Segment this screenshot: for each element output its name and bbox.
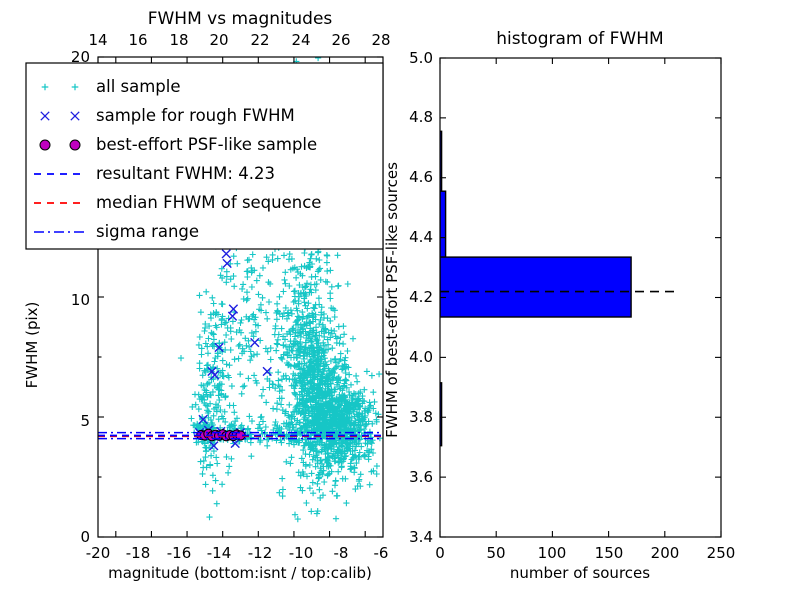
legend-label-resultant-fwhm: resultant FWHM: 4.23: [96, 164, 275, 183]
y-tick-label: 5: [80, 412, 90, 430]
top-tick-label: 16: [128, 31, 147, 49]
bottom-tick-label: -16: [167, 544, 192, 562]
y-tick-label: 0: [80, 528, 90, 546]
histogram-bar: [440, 257, 631, 317]
x-tick-label: 100: [538, 544, 567, 562]
y-tick-label: 3.8: [409, 408, 433, 426]
y-tick-label: 4.4: [409, 228, 433, 246]
left-panel-title: FWHM vs magnitudes: [148, 9, 333, 29]
legend-label-median-fhwm: median FHWM of sequence: [96, 193, 321, 212]
top-tick-label: 22: [250, 31, 269, 49]
legend-label-sigma-range: sigma range: [96, 222, 199, 241]
x-tick-label: 150: [595, 544, 624, 562]
legend-label-rough-fwhm: sample for rough FWHM: [96, 106, 295, 125]
top-tick-label: 28: [371, 31, 390, 49]
y-tick-label: 4.8: [409, 108, 433, 126]
legend-label-all-sample: all sample: [96, 77, 181, 96]
right-panel-ylabel: FWHM of best-effort PSF-like sources: [383, 162, 401, 438]
x-tick-label: 0: [435, 544, 445, 562]
left-panel-ylabel: FWHM (pix): [23, 302, 41, 389]
y-tick-label: 4.2: [409, 288, 433, 306]
bottom-tick-label: -10: [289, 544, 314, 562]
right-panel-histogram: histogram of FWHM 0 50 100 150 200 250 3…: [383, 29, 735, 582]
bottom-tick-label: -8: [334, 544, 349, 562]
left-panel-top-tick-labels: 14 16 18 20 22 24 26 28: [88, 31, 390, 49]
matplotlib-figure: FWHM vs magnitudes 14 16 18 20 22 24 26 …: [0, 0, 800, 600]
y-tick-label: 3.4: [409, 528, 433, 546]
y-tick-label: 4.6: [409, 168, 433, 186]
bottom-tick-label: -12: [248, 544, 273, 562]
bottom-tick-label: -14: [207, 544, 232, 562]
right-panel-xlabel: number of sources: [510, 564, 650, 582]
bottom-tick-label: -6: [374, 544, 389, 562]
legend: all sample sample for rough FWHM best-ef…: [26, 63, 383, 249]
y-tick-label: 4.0: [409, 348, 433, 366]
figure-canvas: FWHM vs magnitudes 14 16 18 20 22 24 26 …: [0, 0, 800, 600]
x-tick-label: 200: [651, 544, 680, 562]
histogram-bar: [440, 191, 446, 257]
top-tick-label: 14: [88, 31, 107, 49]
legend-box: [26, 63, 383, 249]
left-panel-xlabel: magnitude (bottom:isnt / top:calib): [108, 564, 372, 582]
legend-label-psf-like-sample: best-effort PSF-like sample: [96, 135, 317, 154]
y-tick-label: 5.0: [409, 49, 433, 67]
right-panel-x-tick-labels: 0 50 100 150 200 250: [435, 544, 735, 562]
bottom-tick-label: -18: [126, 544, 151, 562]
top-tick-label: 18: [169, 31, 188, 49]
right-panel-y-tick-labels: 3.4 3.6 3.8 4.0 4.2 4.4 4.6 4.8 5.0: [409, 49, 433, 546]
right-panel-title: histogram of FWHM: [496, 29, 663, 49]
top-tick-label: 20: [209, 31, 228, 49]
x-tick-label: 250: [707, 544, 736, 562]
x-tick-label: 50: [486, 544, 505, 562]
left-panel-bottom-tick-labels: -20 -18 -16 -14 -12 -10 -8 -6: [86, 544, 389, 562]
bottom-tick-label: -20: [86, 544, 111, 562]
y-tick-label: 3.6: [409, 468, 433, 486]
top-tick-label: 24: [291, 31, 310, 49]
top-tick-label: 26: [331, 31, 350, 49]
histogram-bars-layer: [440, 131, 631, 445]
y-tick-label: 10: [71, 291, 90, 309]
